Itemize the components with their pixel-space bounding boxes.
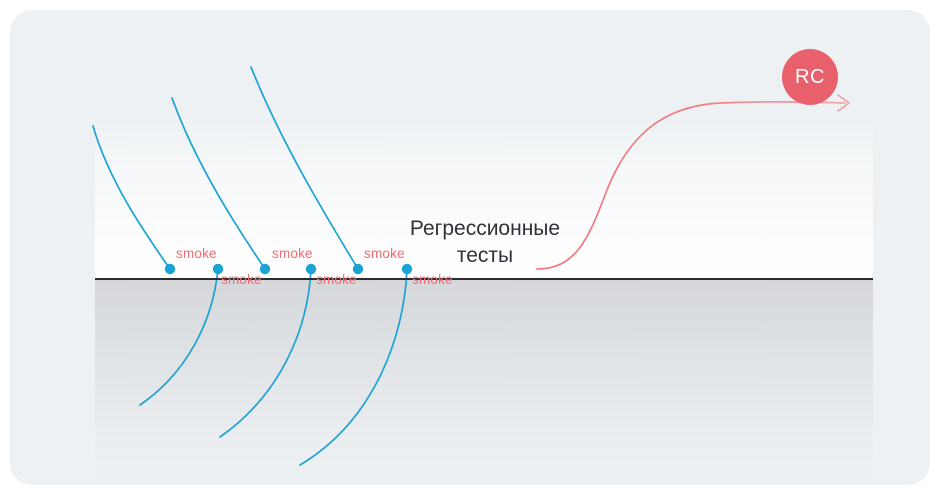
center-title-line-2: тесты — [390, 242, 580, 269]
diagram-canvas: smoke smoke smoke smoke smoke smoke Регр… — [0, 0, 945, 495]
rc-badge[interactable]: RC — [782, 49, 838, 105]
smoke-dot-4[interactable] — [306, 264, 316, 274]
diagram-card: smoke smoke smoke smoke smoke smoke Регр… — [10, 10, 930, 485]
rc-badge-label: RC — [795, 66, 825, 89]
center-title-line-1: Регрессионные — [390, 215, 580, 242]
smoke-curve-above-3 — [251, 67, 358, 269]
smoke-label-4: smoke — [316, 272, 357, 287]
release-candidate-curve — [537, 102, 845, 269]
smoke-dot-1[interactable] — [165, 264, 175, 274]
smoke-label-3: smoke — [272, 246, 313, 261]
smoke-curve-above-2 — [172, 98, 265, 269]
center-title: Регрессионные тесты — [390, 215, 580, 269]
smoke-label-1: smoke — [176, 246, 217, 261]
smoke-label-6: smoke — [412, 272, 453, 287]
smoke-curve-below-2 — [220, 269, 311, 437]
smoke-curve-below-3 — [300, 269, 407, 465]
mainline-baseline — [95, 278, 873, 280]
smoke-curve-above-1 — [93, 126, 170, 269]
smoke-label-2: smoke — [221, 272, 262, 287]
smoke-curve-below-1 — [140, 269, 218, 405]
